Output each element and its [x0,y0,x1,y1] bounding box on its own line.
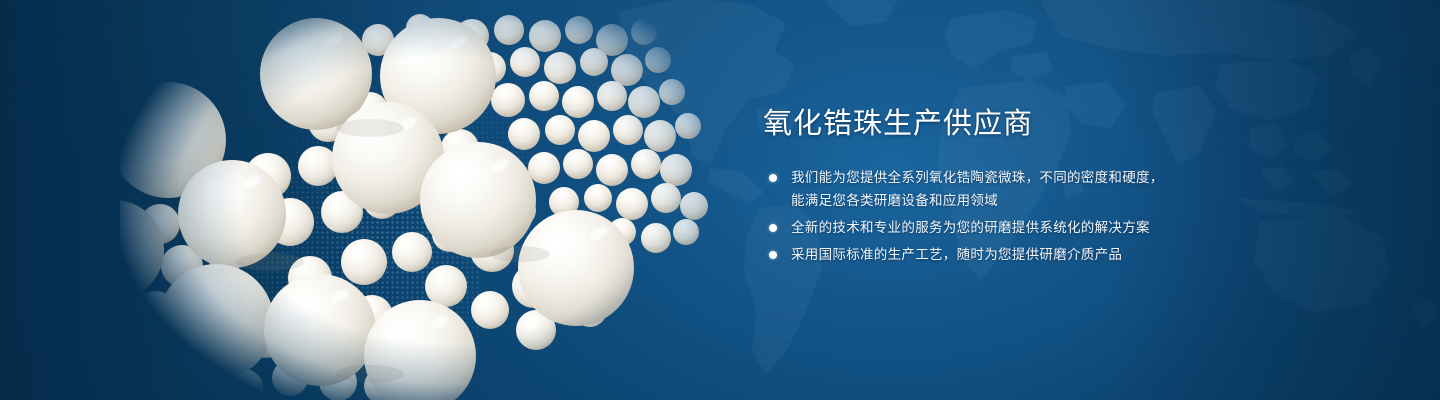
feature-list: 我们能为您提供全系列氧化锆陶瓷微珠，不同的密度和硬度， 能满足您各类研磨设备和应… [763,166,1323,266]
bullet-dot-icon [769,174,777,182]
hero-banner: 氧化锆珠生产供应商 我们能为您提供全系列氧化锆陶瓷微珠，不同的密度和硬度， 能满… [0,0,1440,400]
list-item: 采用国际标准的生产工艺，随时为您提供研磨介质产品 [763,243,1323,266]
list-item: 全新的技术和专业的服务为您的研磨提供系统化的解决方案 [763,216,1323,239]
zirconia-beads-photo [120,0,740,400]
list-item-line-2: 能满足您各类研磨设备和应用领域 [791,189,1323,212]
list-item-line-1: 全新的技术和专业的服务为您的研磨提供系统化的解决方案 [791,220,1150,235]
list-item: 我们能为您提供全系列氧化锆陶瓷微珠，不同的密度和硬度， 能满足您各类研磨设备和应… [763,166,1323,212]
list-item-line-1: 采用国际标准的生产工艺，随时为您提供研磨介质产品 [791,247,1122,262]
page-title: 氧化锆珠生产供应商 [763,104,1323,144]
bullet-dot-icon [769,251,777,259]
hero-copy: 氧化锆珠生产供应商 我们能为您提供全系列氧化锆陶瓷微珠，不同的密度和硬度， 能满… [763,104,1323,270]
bullet-dot-icon [769,224,777,232]
list-item-line-1: 我们能为您提供全系列氧化锆陶瓷微珠，不同的密度和硬度， [791,170,1164,185]
